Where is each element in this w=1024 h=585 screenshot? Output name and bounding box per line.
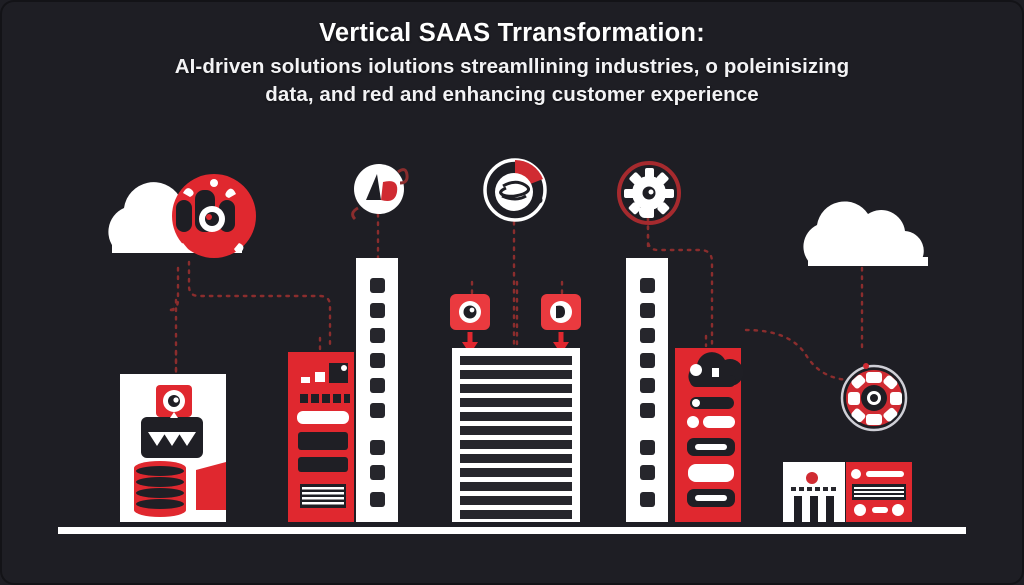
red-cloud-tower[interactable] [675, 348, 743, 522]
red-info-card[interactable] [846, 462, 912, 522]
data-node-badge-icon[interactable] [450, 294, 490, 354]
gear-wheel-icon[interactable] [842, 363, 906, 430]
analytics-circle-icon[interactable] [353, 164, 408, 219]
white-window-tower[interactable] [356, 258, 398, 522]
gear-badge[interactable] [156, 385, 192, 418]
data-flow-badge-icon[interactable] [541, 294, 581, 354]
striped-block-icon [300, 484, 346, 508]
poster-canvas: Vertical SAAS Trransformation: AI-driven… [0, 0, 1024, 585]
data-center-panel[interactable] [120, 374, 226, 522]
swirl-ring-icon[interactable] [485, 160, 545, 220]
red-server-tower[interactable] [288, 352, 354, 522]
columns-icon [794, 496, 834, 522]
striped-server-rack[interactable] [452, 348, 580, 522]
illustration-scene [0, 0, 1024, 585]
baseline [58, 527, 966, 534]
database-stack-icon [134, 461, 186, 517]
ai-network-icon[interactable] [172, 174, 256, 258]
cloud-icon [803, 201, 928, 266]
white-window-tower[interactable] [626, 258, 668, 522]
gear-ring-icon[interactable] [619, 163, 679, 223]
storefront-building[interactable] [783, 462, 845, 522]
